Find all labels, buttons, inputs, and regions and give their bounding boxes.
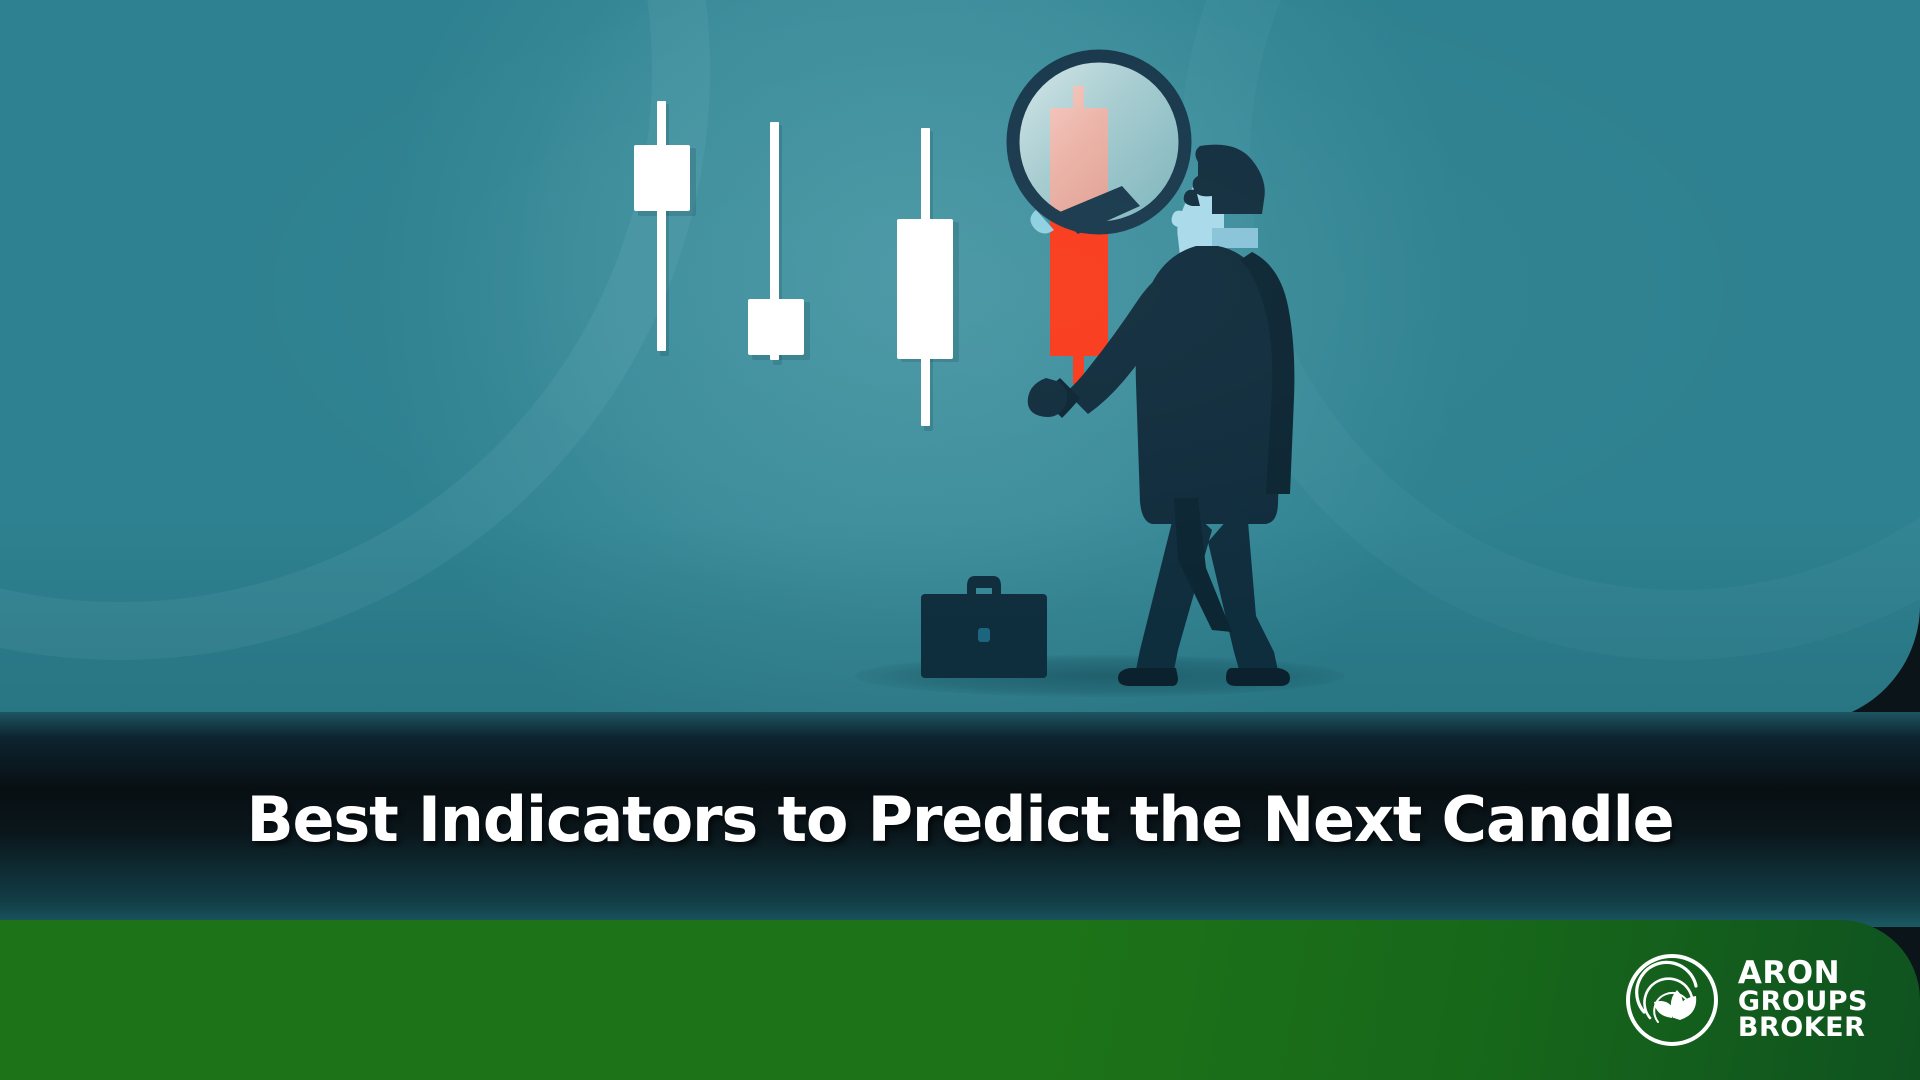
brand-line-2: GROUPS: [1738, 989, 1868, 1015]
hero-vignette: [0, 0, 1920, 723]
brand-line-3: BROKER: [1738, 1015, 1868, 1041]
footer-bar: ARON GROUPS BROKER: [0, 920, 1920, 1080]
hero-illustration: [0, 0, 1920, 723]
page-title: Best Indicators to Predict the Next Cand…: [0, 712, 1920, 927]
brand-line-1: ARON: [1738, 959, 1868, 989]
brand-wordmark: ARON GROUPS BROKER: [1738, 959, 1868, 1041]
banner: Best Indicators to Predict the Next Cand…: [0, 0, 1920, 1080]
leaf-emblem-icon: [1624, 952, 1720, 1048]
brand-logo[interactable]: ARON GROUPS BROKER: [1624, 920, 1868, 1080]
